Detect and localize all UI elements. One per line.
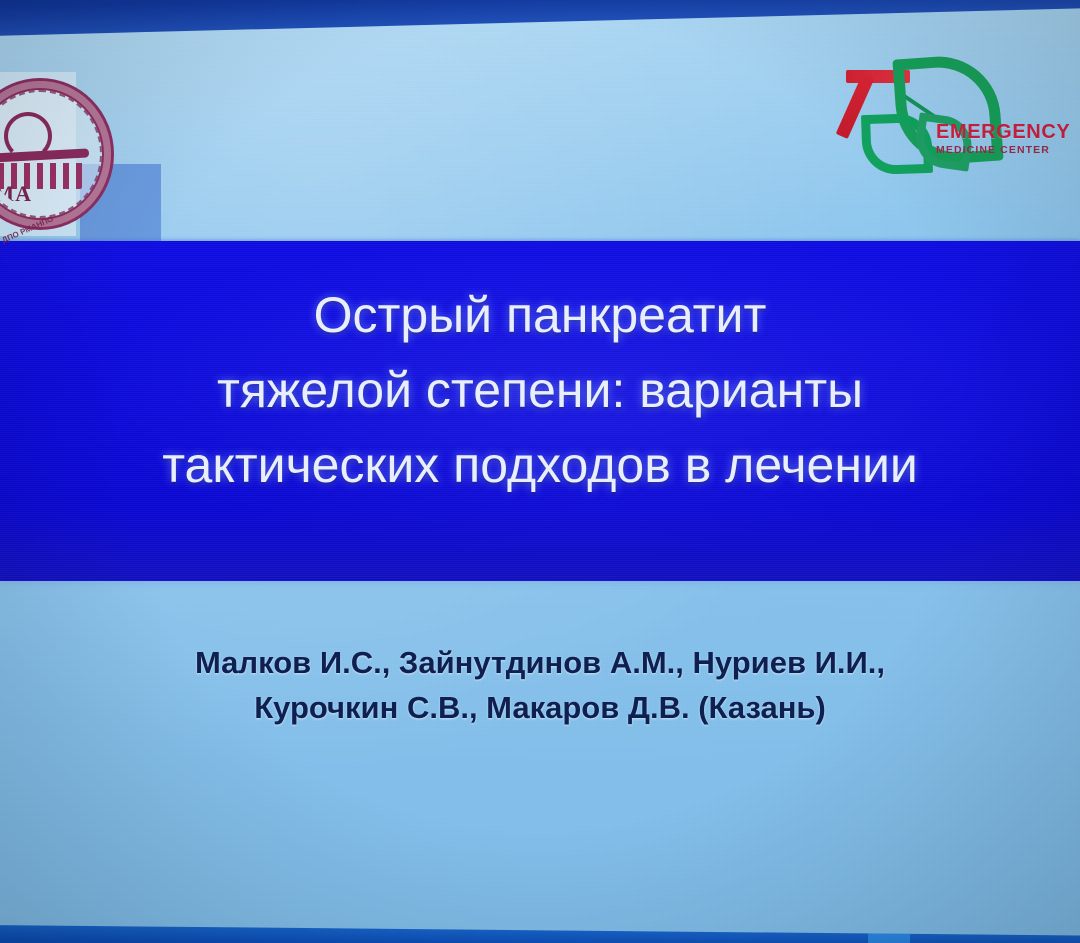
emc-wordmark: EMERGENCY MEDICINE CENTER [936,122,1076,156]
emc-subtitle: MEDICINE CENTER [936,145,1076,156]
seal-monogram: МА [0,181,32,207]
slide-authors: Малков И.С., Зайнутдинов А.М., Нуриев И.… [0,640,1080,730]
presentation-slide-photo: МА ДПО РМАНПО EMERGENCY MEDICINE CENTER … [0,0,1080,943]
slide-title: Острый панкреатит тяжелой степени: вариа… [0,278,1080,503]
emc-title: EMERGENCY [936,122,1076,142]
rmanpo-seal-logo: МА ДПО РМАНПО [0,78,114,230]
emergency-medicine-center-logo: EMERGENCY MEDICINE CENTER [838,52,1074,172]
seal-outer-ring: МА [0,78,114,230]
